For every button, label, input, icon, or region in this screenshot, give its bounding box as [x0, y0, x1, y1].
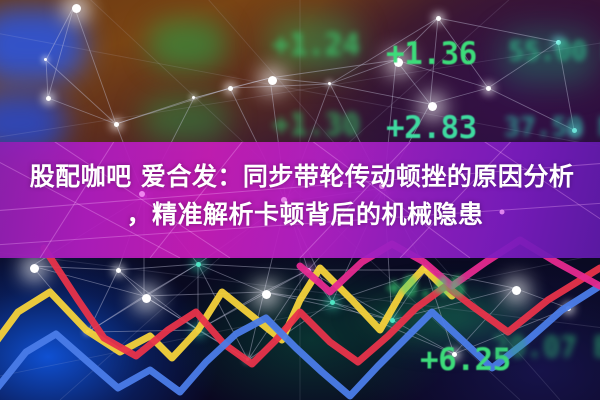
title-line-1: 股配咖吧 爱合发：同步带轮传动顿挫的原因分析	[30, 158, 575, 196]
ticker-mid-left: +1.30	[272, 108, 360, 143]
ticker-top-left: +1.24	[272, 28, 360, 63]
ticker-mid-right: 37.50 M	[504, 112, 600, 143]
stock-banner-image: +1.24+1.3655.00 M+1.30+2.8337.50 M+0.46+…	[0, 0, 600, 400]
ticker-mid-mid: +2.83	[386, 110, 477, 146]
ticker-bottom-right: 20.07 B	[492, 330, 600, 364]
ticker-bottom-left: +0.46	[386, 272, 465, 303]
ticker-top-mid: +1.36	[386, 36, 477, 72]
ticker-top-right: 55.00 M	[508, 36, 600, 67]
title-block: 股配咖吧 爱合发：同步带轮传动顿挫的原因分析 ，精准解析卡顿背后的机械隐患	[0, 158, 600, 254]
title-line-2: ，精准解析卡顿背后的机械隐患	[126, 196, 483, 234]
